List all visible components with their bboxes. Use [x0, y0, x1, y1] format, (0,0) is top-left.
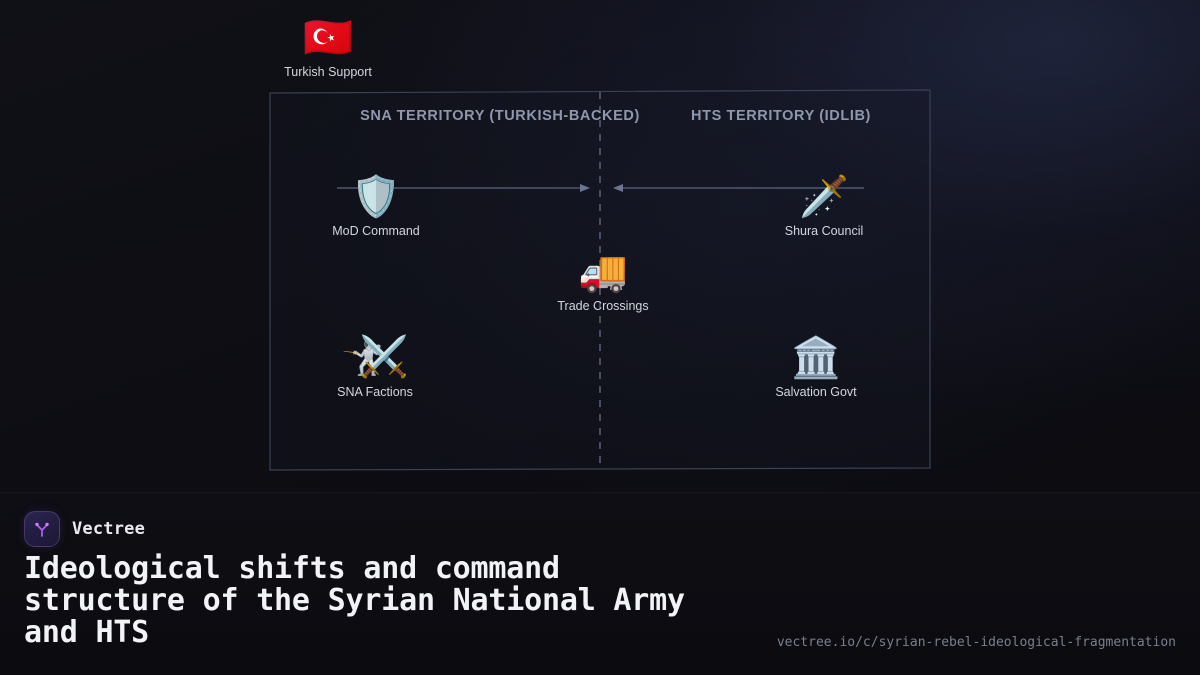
node-shura-council[interactable]: 🗡️ Shura Council — [729, 174, 919, 238]
dagger-icon: 🗡️ — [799, 174, 849, 220]
node-mod-command[interactable]: 🛡️ MoD Command — [281, 174, 471, 238]
brand[interactable]: Vectree — [24, 511, 145, 547]
shield-icon: 🛡️ — [351, 174, 401, 220]
node-label-mod-command: MoD Command — [332, 224, 420, 238]
node-label-trade-crossings: Trade Crossings — [557, 299, 648, 313]
diagram-canvas: SNA TERRITORY (TURKISH-BACKED) HTS TERRI… — [0, 0, 1200, 492]
node-salvation-govt[interactable]: 🏛️ Salvation Govt — [721, 335, 911, 399]
node-label-sna-factions: SNA Factions — [337, 385, 413, 399]
node-trade-crossings[interactable]: 🚚 Trade Crossings — [508, 249, 698, 313]
truck-icon: 🚚 — [578, 249, 628, 295]
vectree-tree-logo-icon — [24, 511, 60, 547]
page-title: Ideological shifts and command structure… — [24, 553, 724, 649]
zone-label-hts: HTS TERRITORY (IDLIB) — [691, 108, 871, 124]
crossed-swords-icon: 🤺 ⚔️ — [339, 335, 411, 381]
screenshot-root: SNA TERRITORY (TURKISH-BACKED) HTS TERRI… — [0, 0, 1200, 675]
classical-building-icon: 🏛️ — [791, 335, 841, 381]
node-label-salvation-govt: Salvation Govt — [775, 385, 856, 399]
swords-glyph: ⚔️ — [359, 335, 409, 379]
diagram-frame — [0, 0, 1200, 492]
brand-name: Vectree — [72, 519, 145, 539]
turkish-flag-icon: 🇹🇷 — [303, 15, 353, 61]
zone-label-sna: SNA TERRITORY (TURKISH-BACKED) — [360, 108, 640, 124]
footer: Vectree Ideological shifts and command s… — [0, 492, 1200, 675]
node-label-shura-council: Shura Council — [785, 224, 864, 238]
node-label-turkish-support: Turkish Support — [284, 65, 372, 79]
node-turkish-support[interactable]: 🇹🇷 Turkish Support — [233, 15, 423, 79]
source-url: vectree.io/c/syrian-rebel-ideological-fr… — [777, 635, 1176, 650]
node-sna-factions[interactable]: 🤺 ⚔️ SNA Factions — [280, 335, 470, 399]
